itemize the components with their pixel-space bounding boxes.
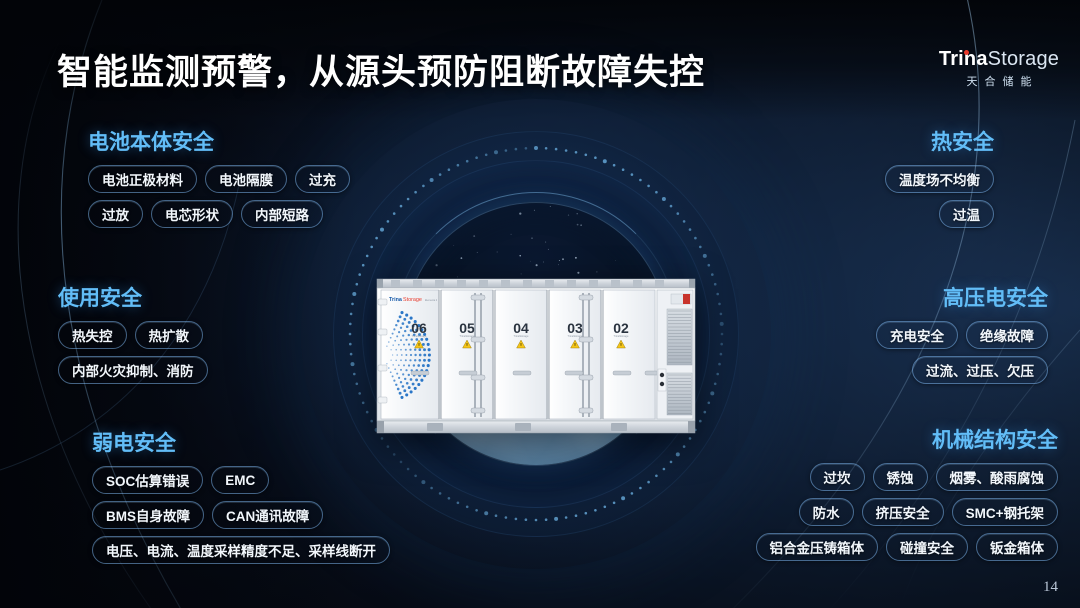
tag-pill[interactable]: 过温 <box>939 200 994 228</box>
group-battery-body-safety: 电池本体安全电池正极材料电池隔膜过充过放电芯形状内部短路 <box>88 126 350 228</box>
group-high-voltage-safety: 高压电安全充电安全绝缘故障过流、过压、欠压 <box>876 282 1048 384</box>
tag-pill[interactable]: 充电安全 <box>876 321 958 349</box>
tag-pill[interactable]: 挤压安全 <box>862 498 944 526</box>
tag-row: 内部火灾抑制、消防 <box>58 356 208 384</box>
svg-text:06: 06 <box>411 320 427 336</box>
tag-row: 过温 <box>885 200 994 228</box>
page-number: 14 <box>1043 579 1058 596</box>
tag-pill[interactable]: 铝合金压铸箱体 <box>756 533 879 561</box>
tag-row: 过放电芯形状内部短路 <box>88 200 350 228</box>
svg-text:TrinaStorage: TrinaStorage <box>514 334 529 338</box>
tag-rows: 温度场不均衡过温 <box>885 165 994 228</box>
energy-storage-container-image: 06 05 04 03 02 01 TrinaStorageTrinaStora… <box>375 277 697 435</box>
svg-text:TrinaStorage: TrinaStorage <box>614 334 629 338</box>
tag-pill[interactable]: 锈蚀 <box>873 463 928 491</box>
tag-pill[interactable]: CAN通讯故障 <box>212 501 323 529</box>
group-thermal-safety: 热安全温度场不均衡过温 <box>885 126 994 228</box>
svg-text:03: 03 <box>567 320 583 336</box>
group-heading-high-voltage-safety: 高压电安全 <box>876 282 1048 312</box>
tag-pill[interactable]: 烟雾、酸雨腐蚀 <box>936 463 1059 491</box>
svg-text:05: 05 <box>459 320 475 336</box>
group-heading-thermal-safety: 热安全 <box>885 126 994 156</box>
tag-row: 温度场不均衡 <box>885 165 994 193</box>
group-low-voltage-safety: 弱电安全SOC估算错误EMCBMS自身故障CAN通讯故障电压、电流、温度采样精度… <box>92 427 390 564</box>
svg-text:TrinaStorage: TrinaStorage <box>412 334 427 338</box>
tag-pill[interactable]: EMC <box>211 466 269 494</box>
tag-pill[interactable]: 电压、电流、温度采样精度不足、采样线断开 <box>92 536 390 564</box>
tag-pill[interactable]: 过充 <box>295 165 350 193</box>
group-usage-safety: 使用安全热失控热扩散内部火灾抑制、消防 <box>58 282 208 384</box>
tag-row: 充电安全绝缘故障 <box>876 321 1048 349</box>
tag-pill[interactable]: 内部短路 <box>241 200 323 228</box>
tag-pill[interactable]: 电池正极材料 <box>88 165 197 193</box>
svg-text:02: 02 <box>613 320 629 336</box>
tag-rows: 过坎锈蚀烟雾、酸雨腐蚀防水挤压安全SMC+钢托架铝合金压铸箱体碰撞安全钣金箱体 <box>756 463 1059 561</box>
page-title: 智能监测预警，从源头预防阻断故障失控 <box>57 44 705 95</box>
tag-pill[interactable]: 内部火灾抑制、消防 <box>58 356 208 384</box>
slide-root: 06 05 04 03 02 01 TrinaStorageTrinaStora… <box>0 0 1080 608</box>
brand-logo: TrinaStorage 天合储能 <box>934 48 1064 89</box>
tag-row: 过坎锈蚀烟雾、酸雨腐蚀 <box>756 463 1059 491</box>
tag-row: 热失控热扩散 <box>58 321 208 349</box>
logo-storage: Storage <box>988 48 1059 70</box>
tag-row: BMS自身故障CAN通讯故障 <box>92 501 390 529</box>
tag-pill[interactable]: 防水 <box>799 498 854 526</box>
tag-pill[interactable]: 热扩散 <box>135 321 204 349</box>
tag-pill[interactable]: 过流、过压、欠压 <box>912 356 1048 384</box>
tag-rows: SOC估算错误EMCBMS自身故障CAN通讯故障电压、电流、温度采样精度不足、采… <box>92 466 390 564</box>
tag-pill[interactable]: 过放 <box>88 200 143 228</box>
svg-text:Elementa 2: Elementa 2 <box>425 299 438 302</box>
group-heading-battery-body-safety: 电池本体安全 <box>88 126 350 156</box>
group-heading-usage-safety: 使用安全 <box>58 282 208 312</box>
tag-rows: 充电安全绝缘故障过流、过压、欠压 <box>876 321 1048 384</box>
tag-pill[interactable]: 电芯形状 <box>151 200 233 228</box>
logo-chinese-name: 天合储能 <box>934 73 1064 89</box>
tag-row: SOC估算错误EMC <box>92 466 390 494</box>
group-heading-low-voltage-safety: 弱电安全 <box>92 427 390 457</box>
svg-text:Trina: Trina <box>389 297 403 303</box>
tag-row: 过流、过压、欠压 <box>876 356 1048 384</box>
group-mechanical-structure-safety: 机械结构安全过坎锈蚀烟雾、酸雨腐蚀防水挤压安全SMC+钢托架铝合金压铸箱体碰撞安… <box>756 424 1059 561</box>
tag-pill[interactable]: SOC估算错误 <box>92 466 203 494</box>
tag-pill[interactable]: 碰撞安全 <box>886 533 968 561</box>
tag-pill[interactable]: 温度场不均衡 <box>885 165 994 193</box>
tag-pill[interactable]: 过坎 <box>810 463 865 491</box>
group-heading-mechanical-structure-safety: 机械结构安全 <box>756 424 1059 454</box>
svg-text:Storage: Storage <box>403 297 422 303</box>
tag-pill[interactable]: 热失控 <box>58 321 127 349</box>
tag-pill[interactable]: 钣金箱体 <box>976 533 1058 561</box>
tag-row: 铝合金压铸箱体碰撞安全钣金箱体 <box>756 533 1059 561</box>
tag-rows: 电池正极材料电池隔膜过充过放电芯形状内部短路 <box>88 165 350 228</box>
tag-pill[interactable]: 电池隔膜 <box>205 165 287 193</box>
svg-text:04: 04 <box>513 320 529 336</box>
tag-rows: 热失控热扩散内部火灾抑制、消防 <box>58 321 208 384</box>
tag-pill[interactable]: BMS自身故障 <box>92 501 204 529</box>
logo-dot-icon <box>964 50 969 55</box>
tag-row: 电池正极材料电池隔膜过充 <box>88 165 350 193</box>
tag-pill[interactable]: 绝缘故障 <box>966 321 1048 349</box>
tag-row: 电压、电流、温度采样精度不足、采样线断开 <box>92 536 390 564</box>
tag-row: 防水挤压安全SMC+钢托架 <box>756 498 1059 526</box>
tag-pill[interactable]: SMC+钢托架 <box>952 498 1058 526</box>
